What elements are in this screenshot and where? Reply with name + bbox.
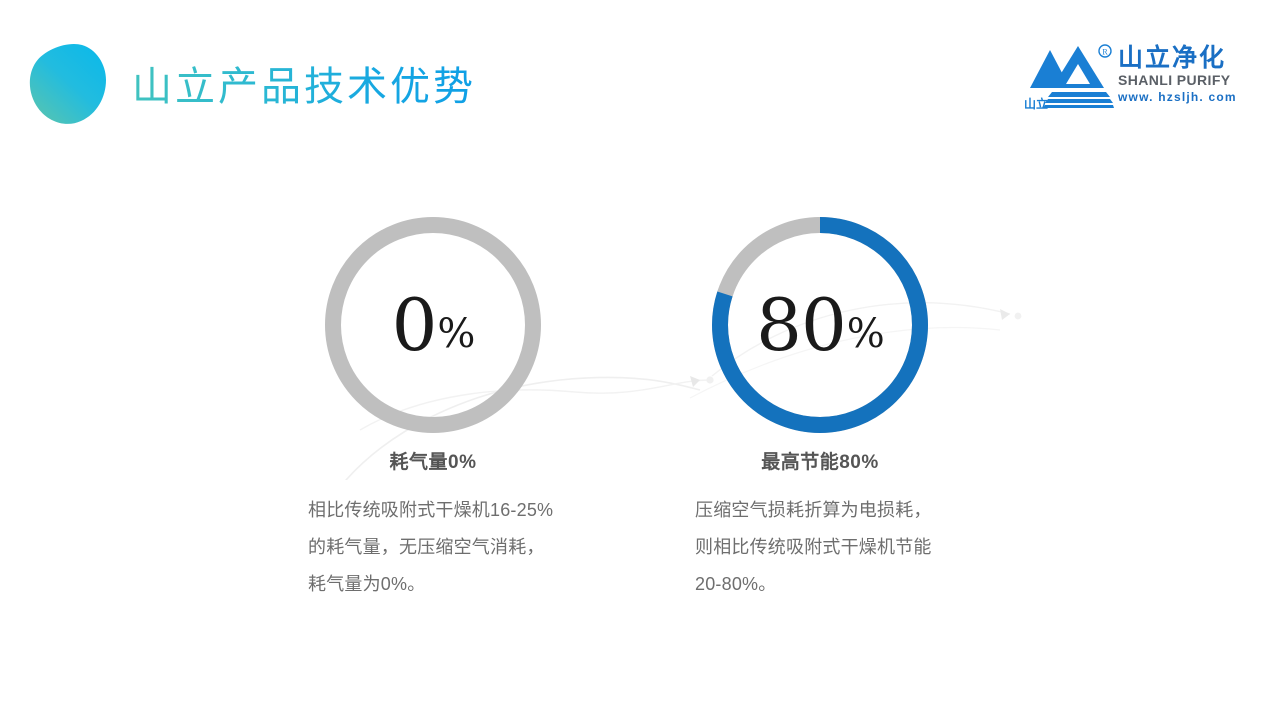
donut-center-label-0: 0 % — [323, 215, 543, 435]
feature-heading-1: 最高节能80% — [695, 450, 945, 476]
feature-column-1: 最高节能80% 压缩空气损耗折算为电损耗，则相比传统吸附式干燥机节能20-80%… — [695, 450, 945, 603]
donut-value-0: 0 — [392, 289, 437, 361]
donut-chart-1: 80 % — [710, 215, 930, 435]
donut-value-1: 80 — [756, 289, 846, 361]
donut-chart-0: 0 % — [323, 215, 543, 435]
chart-area: 0 % 80 % 耗气量0% 相比传统吸附式干燥机16-25%的耗气量，无压缩空… — [0, 0, 1280, 720]
donut-unit-1: % — [847, 314, 885, 354]
donut-unit-0: % — [437, 314, 475, 354]
feature-body-1: 压缩空气损耗折算为电损耗，则相比传统吸附式干燥机节能20-80%。 — [695, 492, 945, 603]
feature-heading-0: 耗气量0% — [308, 450, 558, 476]
donut-center-label-1: 80 % — [710, 215, 930, 435]
feature-body-0: 相比传统吸附式干燥机16-25%的耗气量，无压缩空气消耗，耗气量为0%。 — [308, 492, 558, 603]
feature-column-0: 耗气量0% 相比传统吸附式干燥机16-25%的耗气量，无压缩空气消耗，耗气量为0… — [308, 450, 558, 603]
slide-root: 山立产品技术优势 R 山立 — [0, 0, 1280, 720]
